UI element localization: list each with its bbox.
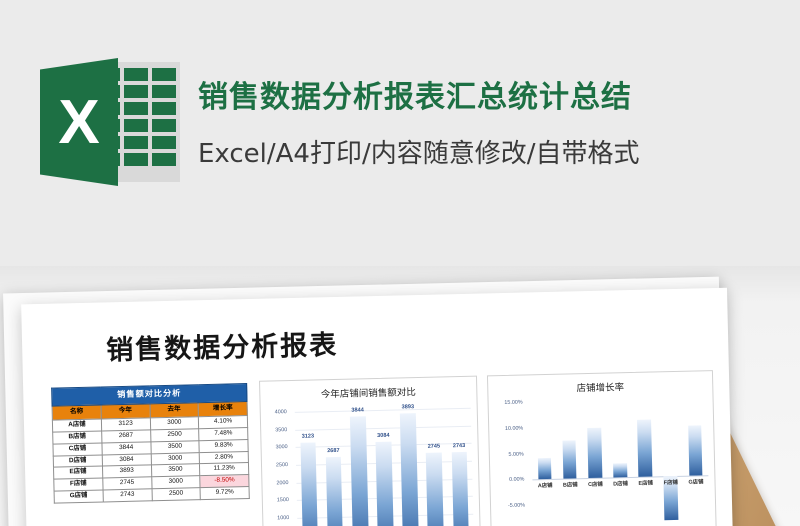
excel-grid-cell — [152, 119, 176, 132]
growth-chart-x-tick: C店铺 — [588, 480, 603, 488]
sales-chart-bar-label: 3084 — [377, 433, 390, 439]
growth-chart-plot: A店铺B店铺C店铺D店铺E店铺F店铺G店铺 — [530, 393, 709, 526]
excel-grid-cell — [124, 102, 148, 115]
sales-chart-plot: 3123268738443084389327452743 — [295, 401, 474, 526]
sales-chart-gridline — [295, 408, 471, 413]
excel-grid-cell — [152, 136, 176, 149]
sales-chart-y-tick: 2500 — [276, 462, 288, 468]
growth-chart-x-tick: A店铺 — [538, 481, 553, 489]
sales-bar-chart-panel: 今年店铺间销售额对比 3123268738443084389327452743 … — [259, 376, 481, 526]
sales-chart-bar-label: 3844 — [351, 407, 364, 413]
growth-chart-y-tick: 5.00% — [508, 451, 523, 457]
excel-grid-cell — [124, 119, 148, 132]
excel-grid-cell — [152, 85, 176, 98]
table-column-header: 去年 — [150, 402, 199, 417]
table-column-header: 今年 — [101, 404, 150, 419]
sales-chart-y-tick: 3000 — [276, 444, 288, 450]
banner-subtitle: Excel/A4打印/内容随意修改/自带格式 — [198, 133, 639, 170]
sales-comparison-table: 销售额对比分析 名称今年去年增长率 A店铺312330004.10%B店铺268… — [51, 383, 250, 504]
sales-chart-bar — [326, 457, 344, 526]
excel-grid-cell — [124, 68, 148, 81]
sales-chart-bar — [426, 453, 444, 526]
excel-grid-cell — [124, 136, 148, 149]
growth-chart-bar — [562, 440, 576, 479]
growth-chart-y-tick: -5.00% — [508, 503, 525, 509]
growth-rate-chart-panel: 店铺增长率 A店铺B店铺C店铺D店铺E店铺F店铺G店铺 15.00%10.00%… — [487, 370, 717, 526]
sales-chart-bar — [400, 413, 419, 526]
growth-chart-y-axis: 15.00%10.00%5.00%0.00%-5.00% — [488, 397, 529, 526]
banner-title: 销售数据分析报表汇总统计总结 — [198, 72, 632, 116]
table-body: A店铺312330004.10%B店铺268725007.48%C店铺38443… — [52, 415, 249, 503]
report-sheet: 销售数据分析报表 销售额对比分析 名称今年去年增长率 A店铺312330004.… — [21, 288, 733, 526]
growth-chart-x-tick: F店铺 — [664, 478, 678, 486]
sales-chart-bar — [300, 442, 318, 526]
excel-grid-cell — [152, 102, 176, 115]
excel-grid-cell — [124, 153, 148, 166]
table-cell-this-year: 2743 — [103, 489, 152, 502]
sales-comparison-table-panel: 销售额对比分析 名称今年去年增长率 A店铺312330004.10%B店铺268… — [51, 383, 251, 526]
growth-chart-bar — [587, 428, 602, 479]
sales-chart-bar — [451, 452, 469, 526]
table-cell-growth: 9.72% — [200, 487, 249, 500]
page-title: 销售数据分析报表 — [106, 323, 339, 367]
table-cell-last-year: 2500 — [152, 488, 201, 501]
excel-grid-cell — [124, 85, 148, 98]
sales-chart-y-tick: 1000 — [277, 515, 289, 521]
growth-chart-y-tick: 0.00% — [509, 477, 524, 483]
growth-chart-bar — [637, 419, 652, 477]
sales-chart-y-tick: 3500 — [275, 427, 287, 433]
growth-chart-x-tick: B店铺 — [563, 481, 578, 489]
table-cell-name: G店铺 — [54, 490, 103, 503]
growth-chart-x-tick: D店铺 — [613, 480, 628, 488]
sales-chart-bar-label: 2743 — [453, 443, 466, 449]
sales-chart-gridline — [295, 425, 471, 430]
header-banner: X 销售数据分析报表汇总统计总结 Excel/A4打印/内容随意修改/自带格式 — [0, 0, 800, 230]
sales-chart-bar-label: 2687 — [327, 448, 340, 454]
table-column-header: 名称 — [52, 405, 101, 420]
excel-letter-x: X — [40, 58, 118, 186]
sales-chart-title: 今年店铺间销售额对比 — [260, 383, 476, 402]
sales-chart-y-tick: 4000 — [275, 409, 287, 415]
excel-grid-cell — [152, 153, 176, 166]
sales-chart-bar-label: 3123 — [302, 433, 315, 439]
table-column-header: 增长率 — [198, 401, 247, 416]
excel-logo: X — [40, 58, 180, 186]
sales-chart-y-axis: 4000350030002500200015001000500 — [261, 405, 294, 526]
growth-chart-bar — [688, 426, 703, 476]
excel-grid-cell — [152, 68, 176, 81]
sales-chart-y-tick: 2000 — [276, 480, 288, 486]
growth-chart-y-tick: 10.00% — [505, 425, 523, 431]
sales-chart-y-tick: 1500 — [277, 497, 289, 503]
growth-chart-bar — [613, 463, 627, 478]
growth-chart-y-tick: 15.00% — [504, 400, 522, 406]
growth-chart-bar — [538, 458, 552, 479]
sales-chart-bar — [350, 416, 369, 526]
growth-chart-x-tick: E店铺 — [638, 479, 653, 487]
sales-chart-bar-label: 3893 — [402, 404, 415, 410]
sales-chart-bar — [376, 442, 394, 526]
growth-chart-x-tick: G店铺 — [688, 478, 703, 486]
sales-chart-bar-label: 2745 — [428, 444, 441, 450]
